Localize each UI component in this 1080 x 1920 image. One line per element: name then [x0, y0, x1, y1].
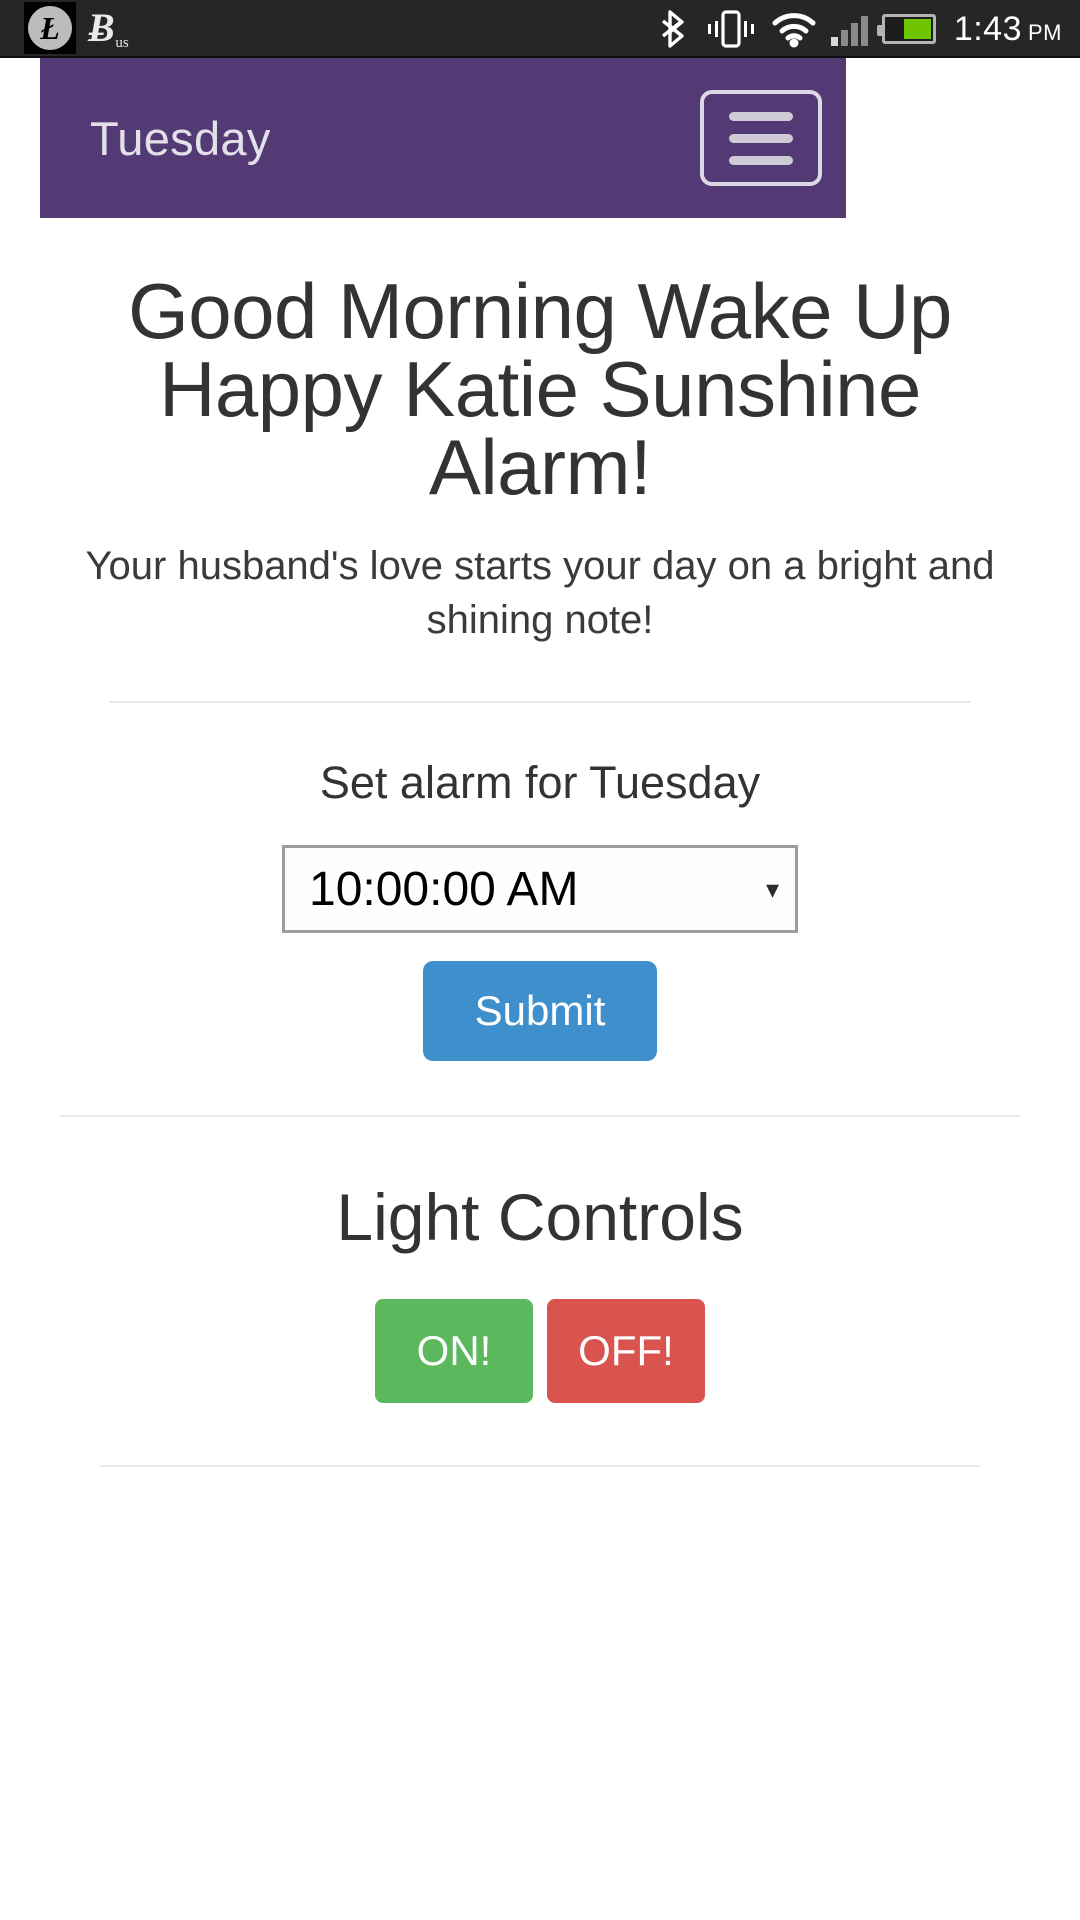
page-title: Tuesday: [90, 111, 271, 166]
status-bar-notification-icons: Ł Ƀus: [0, 2, 115, 54]
bitcoin-icon: Ƀus: [82, 8, 115, 48]
status-bar-clock: 1:43 PM: [950, 10, 1062, 49]
divider-bottom: [100, 1465, 980, 1467]
hamburger-bar-3: [729, 156, 793, 165]
app-header-bar: Tuesday: [40, 58, 846, 218]
light-controls-buttons: ON! OFF!: [60, 1255, 1020, 1403]
light-on-button[interactable]: ON!: [375, 1299, 533, 1403]
hamburger-bar-1: [729, 112, 793, 121]
clock-ampm: PM: [1028, 20, 1062, 46]
light-off-button[interactable]: OFF!: [547, 1299, 705, 1403]
clock-time: 1:43: [954, 10, 1022, 49]
bluetooth-icon: [661, 10, 691, 48]
hero-subtitle: Your husband's love starts your day on a…: [60, 506, 1020, 647]
hamburger-menu-button[interactable]: [700, 90, 822, 186]
alarm-section-label: Set alarm for Tuesday: [60, 703, 1020, 809]
cellular-signal-icon: [831, 12, 868, 46]
page-content: Good Morning Wake Up Happy Katie Sunshin…: [0, 218, 1080, 1467]
bitcoin-glyph: Ƀ: [88, 5, 115, 50]
alarm-section: Set alarm for Tuesday 10:00:00 AM ▾ Subm…: [60, 703, 1020, 1061]
battery-fill: [904, 19, 930, 39]
hero-title: Good Morning Wake Up Happy Katie Sunshin…: [60, 218, 1020, 506]
chevron-down-icon: ▾: [766, 876, 779, 902]
hamburger-bar-2: [729, 134, 793, 143]
alarm-time-select[interactable]: 10:00:00 AM ▾: [282, 845, 798, 933]
light-controls-title: Light Controls: [60, 1117, 1020, 1255]
alarm-time-value: 10:00:00 AM: [309, 862, 579, 917]
app-header-region: Tuesday: [0, 58, 1080, 218]
wifi-icon: [771, 10, 817, 48]
light-controls-section: Light Controls ON! OFF!: [60, 1117, 1020, 1403]
status-bar-system-icons: 1:43 PM: [661, 0, 1062, 58]
bitcoin-sub-label: us: [115, 36, 128, 51]
litecoin-glyph: Ł: [28, 6, 72, 50]
android-status-bar: Ł Ƀus 1:43: [0, 0, 1080, 58]
submit-button[interactable]: Submit: [423, 961, 658, 1061]
battery-icon: [882, 14, 936, 44]
litecoin-icon: Ł: [24, 2, 76, 54]
vibrate-icon: [705, 10, 757, 48]
